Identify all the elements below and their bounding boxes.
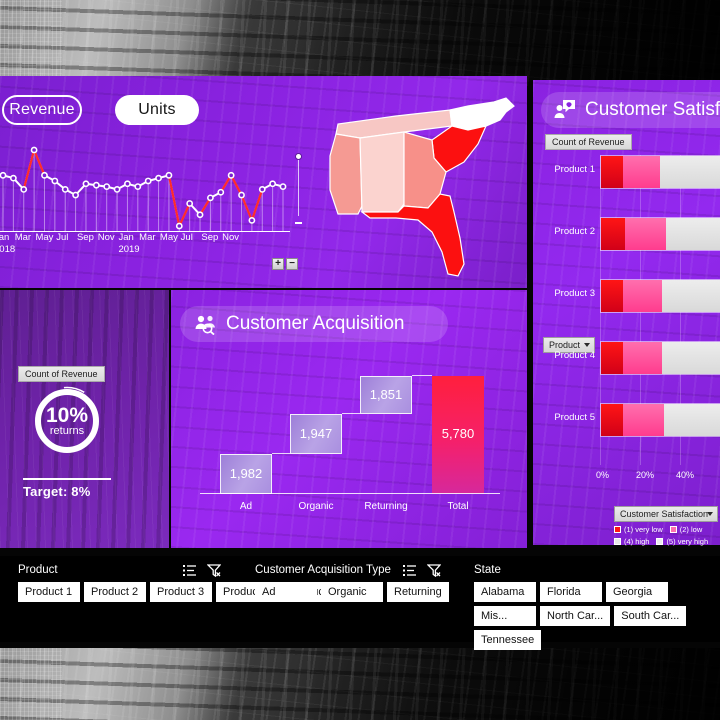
filter-group-state-label: State	[474, 564, 720, 576]
filter-button[interactable]: Ad	[255, 582, 317, 602]
satisfaction-legend-row: (1) very low(2) low	[614, 525, 720, 534]
line-data-point[interactable]	[249, 218, 254, 223]
satisfaction-segment[interactable]	[623, 280, 662, 312]
line-data-point[interactable]	[42, 173, 47, 178]
line-data-point[interactable]	[208, 195, 213, 200]
line-data-point[interactable]	[197, 212, 202, 217]
satisfaction-segment[interactable]	[625, 218, 666, 250]
satisfaction-segment[interactable]	[601, 342, 623, 374]
filter-acquisition-icons[interactable]	[403, 564, 441, 577]
line-axis-tick: Sep	[201, 232, 218, 243]
satisfaction-legend-item[interactable]: (1) very low	[614, 525, 663, 534]
line-axis-tick: Mar	[15, 232, 31, 243]
filter-button[interactable]: Product 1	[18, 582, 80, 602]
map-zoom-slider[interactable]	[295, 156, 303, 216]
waterfall-axis	[200, 493, 500, 494]
satisfaction-row[interactable]: Product 2	[541, 217, 720, 251]
satisfaction-legend-item[interactable]: (5) very high	[656, 537, 708, 546]
waterfall-category-label: Returning	[360, 501, 412, 512]
satisfaction-stacked-bar[interactable]	[600, 217, 720, 251]
line-data-point[interactable]	[83, 181, 88, 186]
revenue-line-chart[interactable]	[0, 140, 288, 232]
satisfaction-axis-tick: 40%	[676, 470, 694, 480]
dashboard-root: Revenue Units JanMarMayJulSepNovJanMarMa…	[0, 0, 720, 720]
satisfaction-segment[interactable]	[601, 280, 623, 312]
legend-color-swatch	[614, 526, 621, 533]
line-data-point[interactable]	[11, 176, 16, 181]
waterfall-value-label: 1,982	[221, 466, 271, 481]
customer-acquisition-header: Customer Acquisition	[180, 306, 448, 342]
line-data-point[interactable]	[239, 192, 244, 197]
line-data-point[interactable]	[166, 173, 171, 178]
map-region-mississippi	[330, 134, 362, 214]
satisfaction-row[interactable]: Product 5	[541, 403, 720, 437]
line-data-point[interactable]	[187, 201, 192, 206]
line-data-point[interactable]	[94, 183, 99, 188]
satisfaction-segment[interactable]	[662, 280, 720, 312]
filter-button[interactable]: South Car...	[614, 606, 686, 626]
filter-button[interactable]: Mis...	[474, 606, 536, 626]
filter-bar: Product Product 1Product 2Product 3Produ…	[0, 556, 720, 642]
satisfaction-axis-tick: 20%	[636, 470, 654, 480]
waterfall-connector	[412, 375, 432, 376]
customer-acquisition-icon	[194, 313, 218, 335]
line-axis-tick: Mar	[139, 232, 155, 243]
satisfaction-product-label: Product 2	[541, 226, 595, 237]
line-data-point[interactable]	[114, 187, 119, 192]
returns-value: 10%	[46, 406, 88, 425]
filter-product-icons[interactable]	[183, 564, 221, 577]
filter-button[interactable]: Florida	[540, 582, 602, 602]
line-data-point[interactable]	[270, 181, 275, 186]
satisfaction-bars[interactable]: Product 1Product 2Product 3Product 4Prod…	[541, 155, 720, 465]
satisfaction-stacked-bar[interactable]	[600, 403, 720, 437]
returns-target: Target: 8%	[23, 484, 91, 499]
line-data-point[interactable]	[0, 173, 5, 178]
customer-feedback-icon	[553, 99, 577, 121]
returns-measure-chip[interactable]: Count of Revenue	[18, 366, 105, 382]
satisfaction-product-label: Product 4	[541, 350, 595, 361]
filter-button[interactable]: Alabama	[474, 582, 536, 602]
map-region-alabama	[360, 132, 404, 212]
customer-acquisition-waterfall[interactable]: 1,982Ad1,947Organic1,851Returning5,780To…	[200, 360, 500, 520]
satisfaction-stacked-bar[interactable]	[600, 155, 720, 189]
satisfaction-segment[interactable]	[601, 404, 623, 436]
waterfall-value-label: 5,780	[432, 426, 484, 441]
chevron-down-icon	[707, 512, 713, 516]
line-data-point[interactable]	[104, 184, 109, 189]
toggle-units[interactable]: Units	[115, 95, 199, 125]
satisfaction-measure-chip[interactable]: Count of Revenue	[545, 134, 632, 150]
clear-filter-icon[interactable]	[207, 564, 221, 577]
line-data-point[interactable]	[260, 187, 265, 192]
satisfaction-stacked-bar[interactable]	[600, 341, 720, 375]
line-data-point[interactable]	[125, 181, 130, 186]
returns-caption: returns	[50, 425, 84, 437]
line-chart-axis-labels: JanMarMayJulSepNovJanMarMayJulSepNov2018…	[0, 232, 290, 258]
satisfaction-row[interactable]: Product 4	[541, 341, 720, 375]
line-axis-tick: Nov	[222, 232, 239, 243]
satisfaction-segment[interactable]	[660, 156, 720, 188]
line-axis-year: 2018	[0, 244, 15, 255]
satisfaction-segment[interactable]	[662, 342, 720, 374]
line-highlight-segments	[24, 150, 263, 226]
customer-satisfaction-header: Customer Satisfaction	[541, 92, 720, 128]
map-region-north-carolina	[450, 98, 514, 130]
background-photo-top	[0, 0, 720, 86]
filter-group-state: State AlabamaFloridaGeorgiaMis...North C…	[474, 564, 720, 650]
filter-button[interactable]: Organic	[321, 582, 383, 602]
line-axis-tick: Sep	[77, 232, 94, 243]
line-data-point[interactable]	[156, 176, 161, 181]
satisfaction-row[interactable]: Product 3	[541, 279, 720, 313]
satisfaction-legend-dropdown-label: Customer Satisfaction	[620, 509, 708, 519]
filter-button[interactable]: North Car...	[540, 606, 610, 626]
line-data-point[interactable]	[21, 187, 26, 192]
satisfaction-axis-tick: 0%	[596, 470, 609, 480]
satisfaction-segment[interactable]	[623, 342, 662, 374]
satisfaction-stacked-bar[interactable]	[600, 279, 720, 313]
satisfaction-segment[interactable]	[601, 156, 623, 188]
target-divider	[23, 478, 111, 480]
sort-list-icon[interactable]	[183, 564, 197, 577]
sort-list-icon[interactable]	[403, 564, 417, 577]
legend-label: (4) high	[624, 537, 649, 546]
background-photo-bottom	[0, 648, 720, 720]
satisfaction-product-label: Product 3	[541, 288, 595, 299]
satisfaction-legend: Customer Satisfaction (1) very low(2) lo…	[614, 506, 720, 546]
waterfall-category-label: Ad	[220, 501, 272, 512]
line-axis-tick: May	[35, 232, 53, 243]
legend-label: (5) very high	[666, 537, 708, 546]
line-axis-tick: Jul	[56, 232, 68, 243]
line-axis-tick: May	[160, 232, 178, 243]
line-data-point[interactable]	[218, 190, 223, 195]
waterfall-value-label: 1,851	[361, 387, 411, 402]
map-zoom-in-button[interactable]: +	[272, 258, 284, 270]
legend-color-swatch	[656, 538, 663, 545]
filter-button[interactable]: Product 2	[84, 582, 146, 602]
line-axis-year: 2019	[118, 244, 139, 255]
waterfall-bar[interactable]: 1,851	[360, 376, 412, 414]
satisfaction-row[interactable]: Product 1	[541, 155, 720, 189]
map-zoom-out-button[interactable]: −	[286, 258, 298, 270]
line-data-point[interactable]	[32, 147, 37, 152]
filter-button[interactable]: Product 3	[150, 582, 212, 602]
filter-group-acquisition-type-items[interactable]: AdOrganicReturning	[255, 582, 449, 602]
customer-acquisition-title: Customer Acquisition	[226, 313, 404, 335]
line-axis-tick: Nov	[98, 232, 115, 243]
returns-donut-label: 10% returns	[31, 385, 103, 457]
line-data-point[interactable]	[146, 178, 151, 183]
line-data-point[interactable]	[63, 187, 68, 192]
satisfaction-segment[interactable]	[601, 218, 625, 250]
satisfaction-legend-dropdown[interactable]: Customer Satisfaction	[614, 506, 718, 522]
line-axis-tick: Jan	[118, 232, 133, 243]
toggle-revenue[interactable]: Revenue	[2, 95, 82, 125]
waterfall-category-label: Organic	[290, 501, 342, 512]
clear-filter-icon[interactable]	[427, 564, 441, 577]
line-axis-tick: Jan	[0, 232, 9, 243]
legend-color-swatch	[614, 538, 621, 545]
satisfaction-segment[interactable]	[666, 218, 720, 250]
satisfaction-product-label: Product 1	[541, 164, 595, 175]
toggle-units-label: Units	[138, 101, 175, 119]
waterfall-category-label: Total	[432, 501, 484, 512]
waterfall-connector	[272, 453, 290, 454]
satisfaction-product-label: Product 5	[541, 412, 595, 423]
satisfaction-legend-row: (4) high(5) very high	[614, 537, 720, 546]
line-data-point[interactable]	[280, 184, 285, 189]
satisfaction-axis: 0%20%40%	[541, 470, 720, 484]
satisfaction-legend-item[interactable]: (4) high	[614, 537, 649, 546]
filter-group-acquisition-type: Customer Acquisition Type AdOrganicRetur…	[255, 564, 449, 602]
line-data-point[interactable]	[229, 173, 234, 178]
line-data-point[interactable]	[73, 192, 78, 197]
waterfall-value-label: 1,947	[291, 426, 341, 441]
filter-button[interactable]: Returning	[387, 582, 449, 602]
satisfaction-segment[interactable]	[664, 404, 720, 436]
customer-satisfaction-title: Customer Satisfaction	[585, 99, 720, 121]
toggle-revenue-label: Revenue	[9, 101, 74, 119]
legend-color-swatch	[670, 526, 677, 533]
filter-group-state-items[interactable]: AlabamaFloridaGeorgiaMis...North Car...S…	[474, 582, 720, 650]
line-axis-tick: Jul	[181, 232, 193, 243]
waterfall-total-bar[interactable]: 5,780	[432, 376, 484, 494]
satisfaction-segment[interactable]	[623, 404, 664, 436]
map-zoom-controls[interactable]: + −	[272, 258, 298, 270]
waterfall-bar[interactable]: 1,947	[290, 414, 342, 454]
waterfall-bar[interactable]: 1,982	[220, 454, 272, 494]
waterfall-connector	[342, 413, 360, 414]
state-map[interactable]	[300, 86, 525, 286]
line-data-point[interactable]	[177, 223, 182, 228]
legend-label: (2) low	[680, 525, 703, 534]
satisfaction-segment[interactable]	[623, 156, 660, 188]
state-map-svg[interactable]	[300, 86, 525, 286]
legend-label: (1) very low	[624, 525, 663, 534]
filter-button[interactable]: Georgia	[606, 582, 668, 602]
filter-button[interactable]: Tennessee	[474, 630, 541, 650]
line-data-point[interactable]	[135, 184, 140, 189]
satisfaction-legend-item[interactable]: (2) low	[670, 525, 703, 534]
line-data-point[interactable]	[52, 178, 57, 183]
